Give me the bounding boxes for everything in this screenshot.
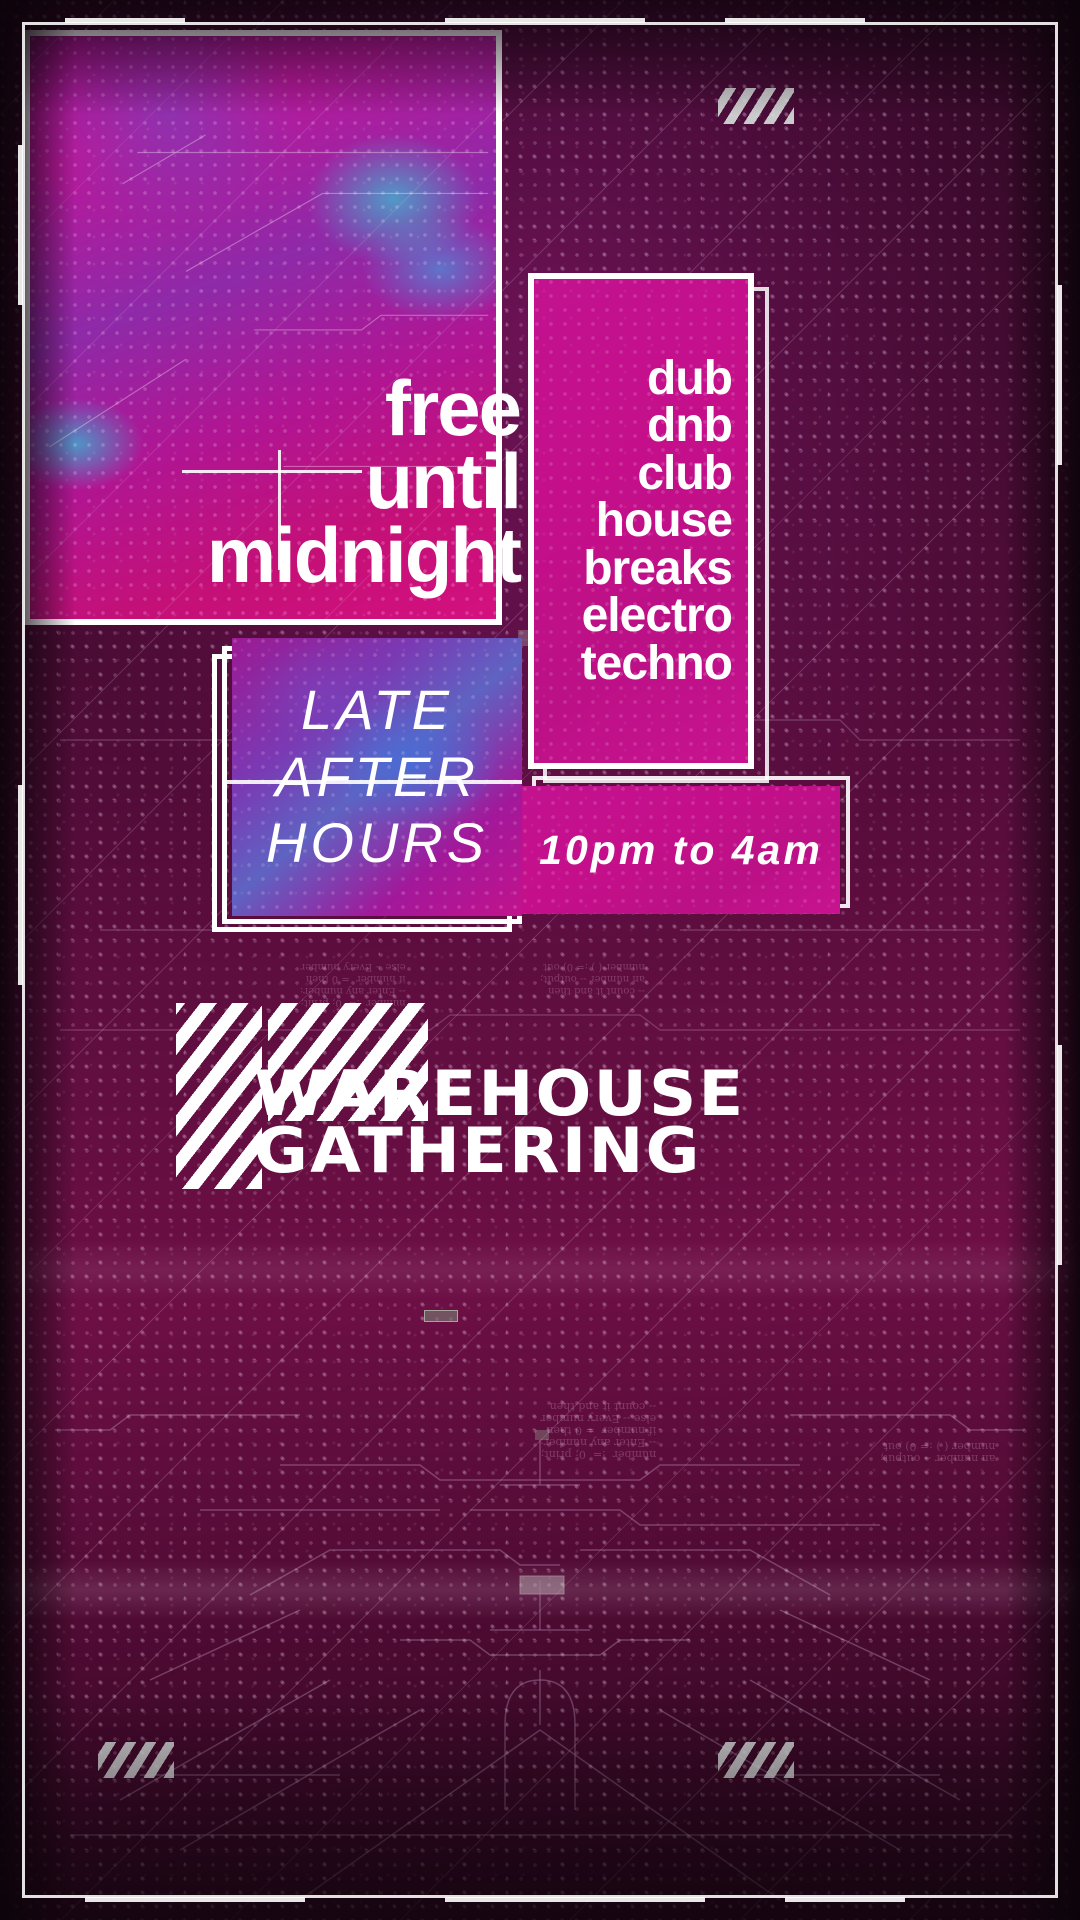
poster-canvas: number := 0; print; -- Enter any number:… — [0, 0, 1080, 1920]
logo-wordmark: WAREHOUSE GATHERING — [254, 1065, 874, 1179]
frame-tick-top-a — [65, 18, 185, 23]
background-code-text-right: -- count it and then an number -- output… — [540, 960, 645, 996]
genre-item: club — [637, 450, 732, 498]
genre-item: breaks — [583, 545, 732, 593]
crosshair-horizontal — [182, 470, 362, 473]
photo-circuit-overlay — [30, 36, 496, 619]
scanline-glow — [0, 1560, 1080, 1620]
frame-tick-right-b — [1057, 1045, 1062, 1265]
late-line-3: HOURS — [266, 812, 488, 875]
genre-item: dub — [647, 355, 732, 403]
frame-tick-bottom-a — [85, 1897, 305, 1902]
late-line-1: LATE — [301, 679, 453, 742]
stripe-glyph-bottom-left — [98, 1742, 174, 1778]
genre-item: techno — [581, 640, 732, 688]
hero-photo-panel — [24, 30, 502, 625]
frame-tick-bottom-c — [785, 1897, 905, 1902]
frame-tick-top-c — [725, 18, 865, 23]
crosshair-vertical — [278, 450, 281, 570]
chip-glyph-c — [424, 1310, 458, 1322]
genre-item: house — [596, 497, 732, 545]
frame-tick-right-a — [1057, 285, 1062, 465]
frame-tick-top-b — [445, 18, 645, 23]
genre-item: dnb — [647, 402, 732, 450]
scanline-glow-2 — [0, 1240, 1080, 1300]
late-line-2: AFTER — [275, 746, 479, 809]
genres-list: dub dnb club house breaks electro techno — [534, 279, 748, 763]
stripe-glyph-top-right — [718, 88, 794, 124]
background-code-text-left: number := 0; print; -- Enter any number:… — [300, 960, 406, 1008]
stripe-glyph-bottom-right — [718, 1742, 794, 1778]
circuit-trace-graphic — [0, 1380, 1080, 1920]
warehouse-gathering-logo: WAREHOUSE GATHERING — [176, 1003, 876, 1203]
late-hours-text-block: LATE AFTER HOURS — [232, 638, 522, 916]
frame-tick-bottom-b — [445, 1897, 705, 1902]
background-code-text-bottom: number := 0; print; -- Enter any number:… — [540, 1400, 656, 1460]
frame-tick-left-a — [18, 145, 23, 305]
logo-word-gathering: GATHERING — [254, 1122, 911, 1179]
genres-panel: dub dnb club house breaks electro techno — [528, 273, 754, 769]
time-bar-label: 10pm to 4am — [522, 786, 840, 914]
logo-stripe-mark-vertical — [176, 1003, 262, 1189]
time-bar-panel: 10pm to 4am — [522, 786, 840, 914]
frame-tick-left-b — [18, 785, 23, 985]
background-code-text-bottom-2: an number -- output; number ( ) := 0) ou… — [880, 1440, 995, 1464]
genre-item: electro — [582, 592, 732, 640]
